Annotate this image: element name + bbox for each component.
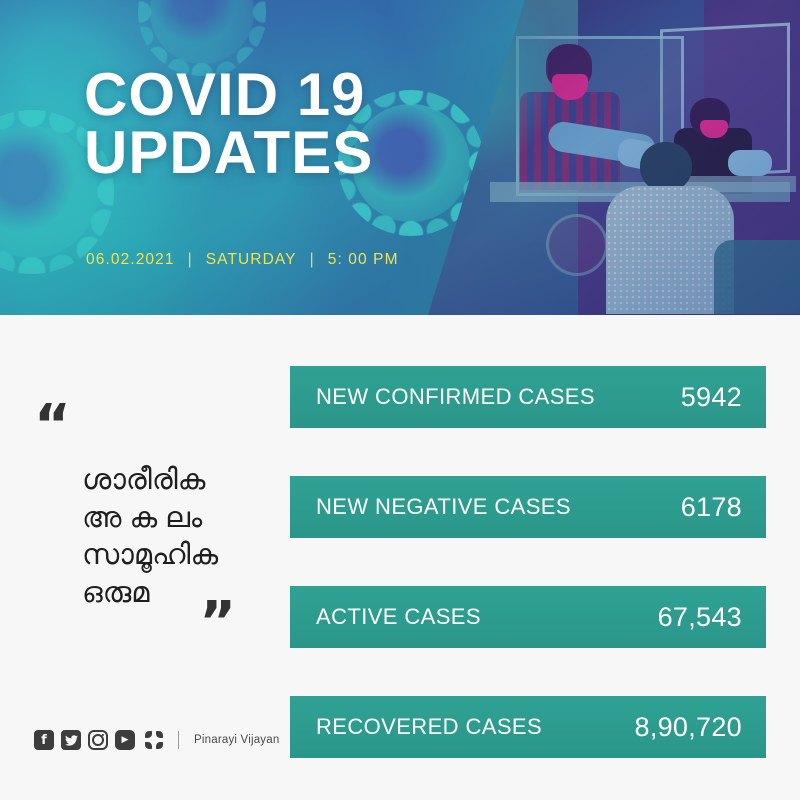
quote-line-1: ശാരീരിക xyxy=(82,462,264,500)
header-date: 06.02.2021 xyxy=(86,251,175,269)
stat-row-new-negative-cases: NEW NEGATIVE CASES 6178 xyxy=(290,476,766,538)
header-datetime: 06.02.2021 | SATURDAY | 5: 00 PM xyxy=(86,251,399,269)
instagram-icon[interactable] xyxy=(88,730,108,750)
stat-value: 6178 xyxy=(681,492,742,523)
header-time: 5: 00 PM xyxy=(328,251,399,269)
stat-label: NEW NEGATIVE CASES xyxy=(316,494,571,520)
twitter-icon[interactable] xyxy=(61,730,81,750)
stat-label: RECOVERED CASES xyxy=(316,714,542,740)
pinwheel-logo-icon xyxy=(145,731,163,749)
covid-update-poster: COVID 19 UPDATES 06.02.2021 | SATURDAY |… xyxy=(0,0,800,800)
title-line-2: UPDATES xyxy=(84,124,373,182)
stat-label: NEW CONFIRMED CASES xyxy=(316,384,595,410)
statistics-list: NEW CONFIRMED CASES 5942 NEW NEGATIVE CA… xyxy=(290,366,766,758)
stat-value: 8,90,720 xyxy=(635,712,743,743)
coronavirus-icon xyxy=(150,0,254,64)
title-line-1: COVID 19 xyxy=(84,61,365,128)
stat-row-new-confirmed-cases: NEW CONFIRMED CASES 5942 xyxy=(290,366,766,428)
header-day: SATURDAY xyxy=(206,251,297,269)
poster-header: COVID 19 UPDATES 06.02.2021 | SATURDAY |… xyxy=(0,0,800,315)
youtube-icon[interactable]: ▶ xyxy=(115,730,135,750)
stat-value: 5942 xyxy=(681,382,742,413)
page-title: COVID 19 UPDATES xyxy=(84,66,373,181)
quote-line-4: ഒരുമ xyxy=(82,575,264,613)
quote-line-3: സാമൂഹിക xyxy=(82,537,264,575)
quote-close-icon: ” xyxy=(32,609,236,637)
quote-line-2: അ ക ലം xyxy=(82,500,264,538)
quote-open-icon: “ xyxy=(34,412,264,440)
footer-social-bar: f ▶ Pinarayi Vijayan xyxy=(34,730,279,750)
footer-author-name: Pinarayi Vijayan xyxy=(194,734,279,746)
quote-text: ശാരീരിക അ ക ലം സാമൂഹിക ഒരുമ xyxy=(82,462,264,613)
quote-block: “ ശാരീരിക അ ക ലം സാമൂഹിക ഒരുമ ” xyxy=(32,412,264,637)
stat-row-active-cases: ACTIVE CASES 67,543 xyxy=(290,586,766,648)
footer-divider xyxy=(178,731,179,749)
stat-value: 67,543 xyxy=(658,602,742,633)
separator: | xyxy=(310,251,315,269)
stat-label: ACTIVE CASES xyxy=(316,604,481,630)
facebook-icon[interactable]: f xyxy=(34,730,54,750)
separator: | xyxy=(188,251,193,269)
stat-row-recovered-cases: RECOVERED CASES 8,90,720 xyxy=(290,696,766,758)
